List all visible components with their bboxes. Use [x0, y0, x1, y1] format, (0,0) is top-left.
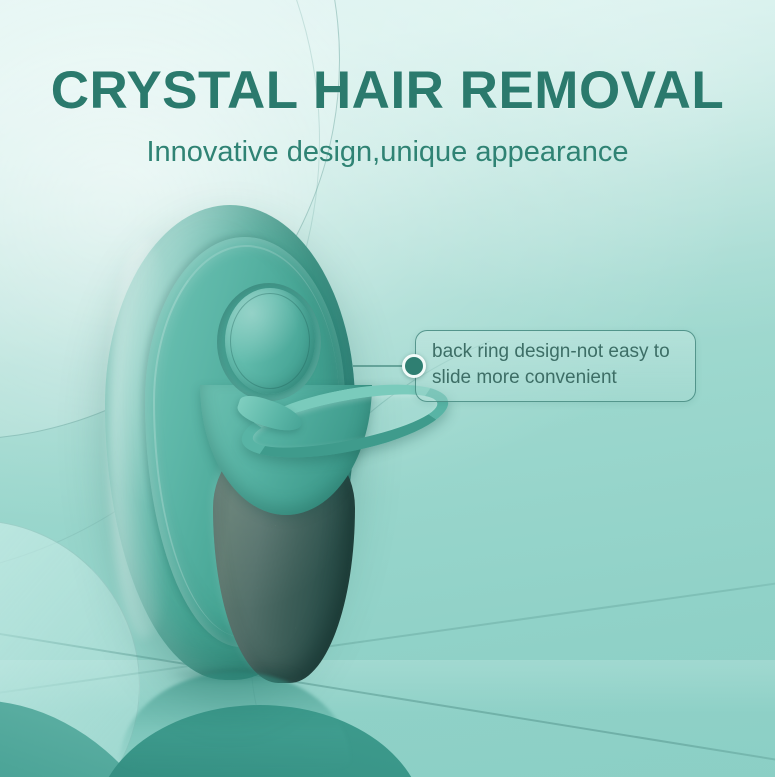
page-subtitle: Innovative design,unique appearance	[0, 134, 775, 170]
device-button-outline	[230, 293, 310, 389]
callout-leader-line	[353, 365, 405, 367]
callout-label: back ring design-not easy to slide more …	[432, 339, 690, 391]
callout-anchor-dot-icon	[402, 354, 426, 378]
callout-annotation: back ring design-not easy to slide more …	[415, 330, 696, 402]
page-title: CRYSTAL HAIR REMOVAL	[0, 62, 775, 120]
product-image	[105, 205, 355, 680]
product-banner-image: CRYSTAL HAIR REMOVAL Innovative design,u…	[0, 0, 775, 777]
